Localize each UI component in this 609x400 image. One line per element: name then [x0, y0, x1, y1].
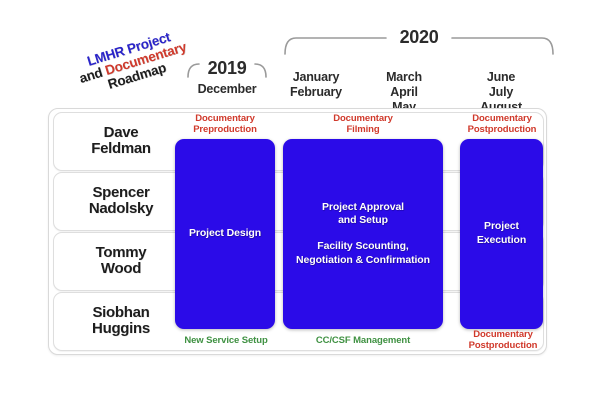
participant-name-dave-feldman: DaveFeldman: [62, 125, 180, 159]
phase-bar-project-approval[interactable]: Project Approvaland SetupFacility Scount…: [283, 139, 443, 329]
phase-top-label-postproduction: DocumentaryPostproduction: [447, 114, 557, 136]
month-header-january-february: JanuaryFebruary: [272, 70, 360, 100]
phase-bar-label-project-approval: Project Approvaland SetupFacility Scount…: [296, 201, 430, 268]
phase-bottom-label-cc-csf-management: CC/CSF Management: [288, 336, 438, 347]
phase-top-label-preproduction: DocumentaryPreproduction: [172, 114, 278, 136]
participant-name-tommy-wood: TommyWood: [62, 245, 180, 279]
phase-bottom-label-new-service-setup: New Service Setup: [170, 336, 282, 347]
phase-top-label-filming: DocumentaryFilming: [288, 114, 438, 136]
year-label-2019: 2019: [188, 58, 266, 79]
roadmap-diagram: LMHR Project and Documentary Roadmap 201…: [0, 0, 609, 400]
phase-bottom-label-documentary-postproduction: DocumentaryPostproduction: [447, 330, 559, 352]
participant-name-spencer-nadolsky: SpencerNadolsky: [62, 185, 180, 219]
phase-bar-project-design[interactable]: Project Design: [175, 139, 275, 329]
month-header-december: December: [183, 82, 271, 97]
phase-bar-label-project-design: Project Design: [189, 227, 261, 241]
participant-name-siobhan-huggins: SiobhanHuggins: [62, 305, 180, 339]
phase-bar-project-execution[interactable]: ProjectExecution: [460, 139, 543, 329]
year-label-2020: 2020: [283, 27, 555, 48]
phase-bar-label-project-execution: ProjectExecution: [477, 220, 526, 247]
